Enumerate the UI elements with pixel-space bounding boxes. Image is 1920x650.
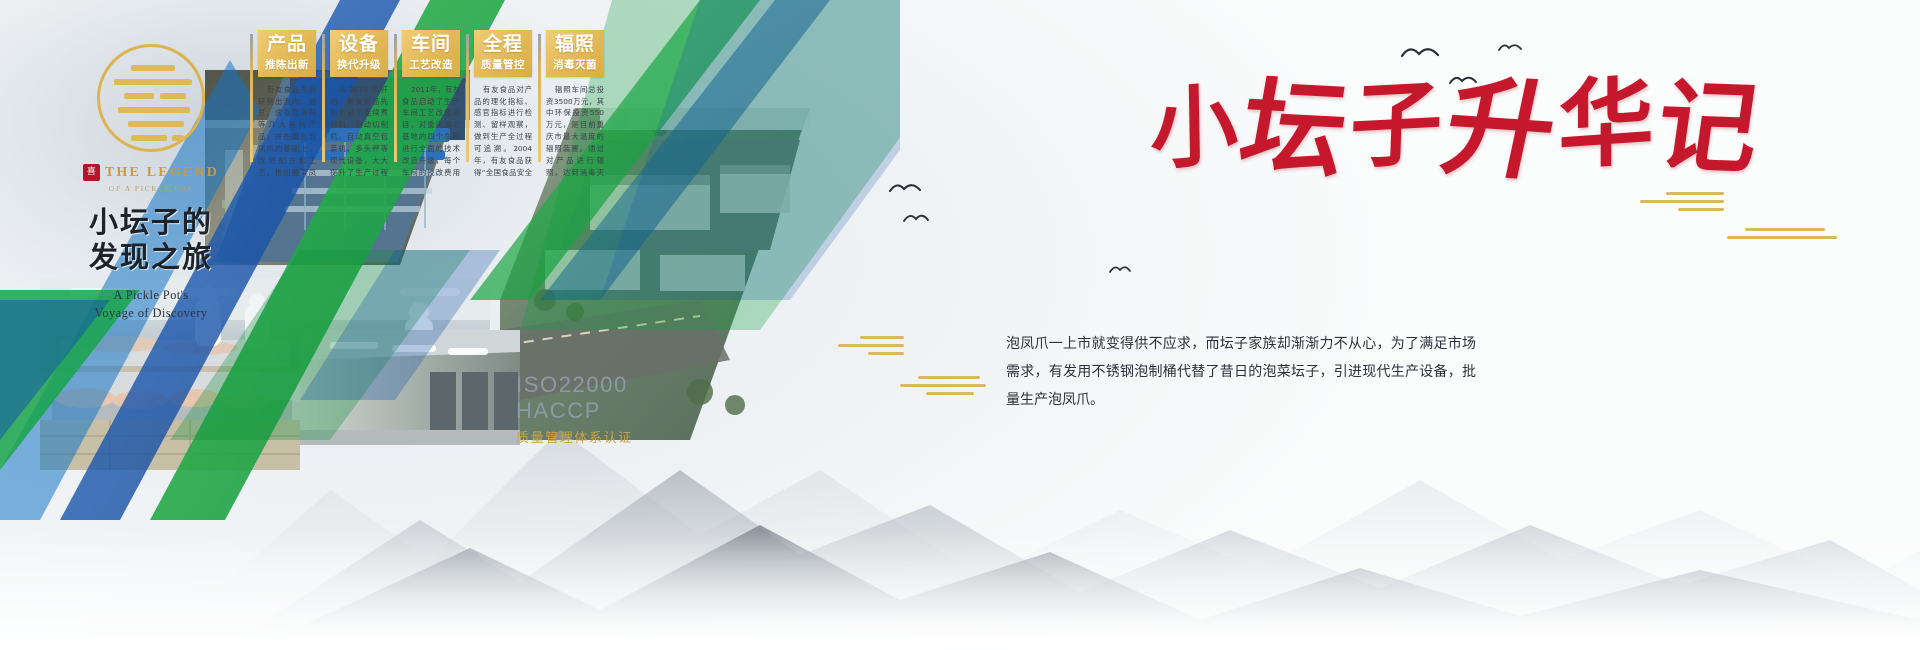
- card-rule: [466, 34, 469, 162]
- legend-sub-text: OF A PICKLE POT: [46, 184, 256, 193]
- card-title: 辐照: [549, 34, 601, 55]
- card-title: 产品: [261, 34, 313, 55]
- bird-icon: [888, 178, 922, 198]
- info-card-irradiation: 辐照 消毒灭菌 辐照车间总投资3500万元，其中环保投资550万元，是目前重庆市…: [546, 30, 604, 180]
- brand-title-cn-line1: 小坛子的: [46, 205, 256, 240]
- card-header: 辐照 消毒灭菌: [546, 30, 604, 77]
- headline-char-2: 坛: [1233, 78, 1354, 181]
- headline-char-6: 记: [1651, 79, 1764, 177]
- bird-icon: [1497, 40, 1523, 56]
- banner-canvas: 喜 THE LEGEND OF A PICKLE POT 小坛子的 发现之旅 A…: [0, 0, 1920, 650]
- headline-char-3: 子: [1349, 79, 1444, 171]
- brand-logo-block: 喜 THE LEGEND OF A PICKLE POT 小坛子的 发现之旅 A…: [46, 44, 256, 322]
- bird-icon: [1448, 72, 1478, 90]
- headline-char-1: 小: [1149, 82, 1238, 173]
- card-subtitle: 换代升级: [333, 57, 385, 72]
- card-title: 车间: [405, 34, 457, 55]
- cloud-ornament-center: [838, 336, 904, 360]
- card-body-text: 有友食品先后研制出泡肉、泡豆、卤香及海鲜等几大系列产品，并在原有泡凤爪的基础上，…: [258, 84, 316, 180]
- card-header: 全程 质量管控: [474, 30, 532, 77]
- info-card-list: 产品 推陈出新 有友食品先后研制出泡肉、泡豆、卤香及海鲜等几大系列产品，并在原有…: [258, 30, 604, 180]
- brand-title-cn-line2: 发现之旅: [46, 240, 256, 275]
- legend-en-text: THE LEGEND: [105, 165, 219, 181]
- card-title: 全程: [477, 34, 529, 55]
- certification-haccp-line: HACCP: [516, 398, 633, 424]
- headline-char-4: 升: [1435, 75, 1564, 184]
- info-card-equipment: 设备 换代升级 从2010年开始，有友食品先后引进了连续煮制机、自动切制机、自动…: [330, 30, 388, 180]
- card-subtitle: 消毒灭菌: [549, 57, 601, 72]
- card-subtitle: 推陈出新: [261, 57, 313, 72]
- card-rule: [250, 34, 253, 162]
- card-body-text: 有友食品对产品的理化指标、感官指标进行检测、留样观察，做到生产全过程可追溯。20…: [474, 84, 532, 180]
- card-rule: [394, 34, 397, 162]
- card-header: 车间 工艺改造: [402, 30, 460, 77]
- info-card-workshop: 车间 工艺改造 2011年，有友食品启动了生产车间工艺改造项目，对重庆渝北基地的…: [402, 30, 460, 180]
- headline-char-5: 华: [1558, 75, 1654, 173]
- certification-iso-line: ISO22000: [516, 372, 633, 398]
- red-seal-icon: 喜: [83, 164, 100, 181]
- brand-title-en: A Pickle Pot's Voyage of Discovery: [46, 286, 256, 322]
- info-card-product: 产品 推陈出新 有友食品先后研制出泡肉、泡豆、卤香及海鲜等几大系列产品，并在原有…: [258, 30, 316, 180]
- body-paragraph: 泡凤爪一上市就变得供不应求，而坛子家族却渐渐力不从心，为了满足市场需求，有发用不…: [1006, 330, 1476, 414]
- card-body-text: 2011年，有友食品启动了生产车间工艺改造项目，对重庆渝北基地的四个车间进行全面…: [402, 84, 460, 180]
- certification-block: ISO22000 HACCP 质量管理体系认证: [516, 372, 633, 446]
- bird-icon: [902, 210, 930, 227]
- cloud-ornament-far-right: [1745, 228, 1837, 244]
- info-card-quality: 全程 质量管控 有友食品对产品的理化指标、感官指标进行检测、留样观察，做到生产全…: [474, 30, 532, 180]
- certification-cn-line: 质量管理体系认证: [516, 427, 633, 446]
- card-header: 设备 换代升级: [330, 30, 388, 77]
- cloud-ornament-center-low: [900, 376, 986, 400]
- card-body-text: 辐照车间总投资3500万元，其中环保投资550万元，是目前重庆市最大温度的辐照装…: [546, 84, 604, 180]
- card-subtitle: 质量管控: [477, 57, 529, 72]
- brand-title-en-line2: Voyage of Discovery: [46, 304, 256, 322]
- brand-title-cn: 小坛子的 发现之旅: [46, 205, 256, 276]
- bird-icon: [1108, 262, 1132, 277]
- bird-icon: [1400, 42, 1440, 64]
- card-title: 设备: [333, 34, 385, 55]
- pickle-pot-seal-icon: [97, 44, 205, 152]
- headline-calligraphy: 小 坛 子 升 华 记: [1150, 78, 1758, 169]
- cloud-ornament-right: [1640, 192, 1724, 216]
- brand-title-en-line1: A Pickle Pot's: [46, 286, 256, 304]
- card-rule: [322, 34, 325, 162]
- card-header: 产品 推陈出新: [258, 30, 316, 77]
- card-rule: [538, 34, 541, 162]
- brand-wordmark: 喜 THE LEGEND: [46, 164, 256, 181]
- card-subtitle: 工艺改造: [405, 57, 457, 72]
- card-body-text: 从2010年开始，有友食品先后引进了连续煮制机、自动切制机、自动真空包装机、多头…: [330, 84, 388, 180]
